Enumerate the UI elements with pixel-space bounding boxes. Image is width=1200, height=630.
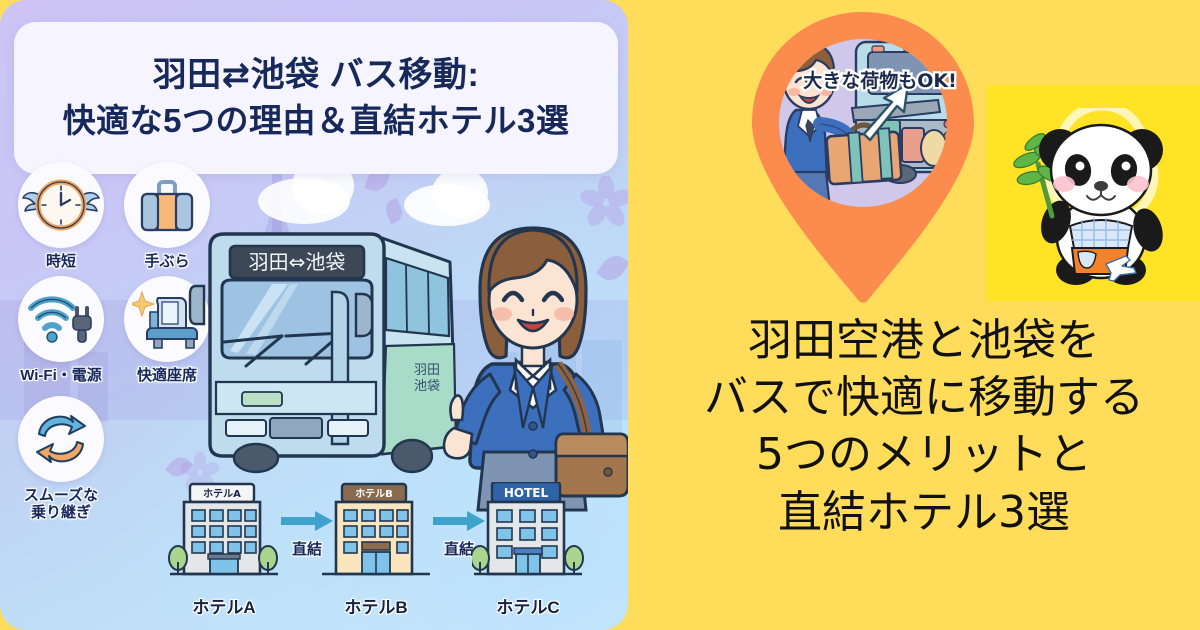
hotel-building-icon: ホテルB xyxy=(320,482,432,586)
benefit-label: 時短 xyxy=(8,254,114,271)
hotel-item-b[interactable]: ホテルB ホテルB xyxy=(320,482,432,618)
title-line-1: 羽田⇄池袋 バス移動: xyxy=(153,55,480,96)
svg-text:羽田: 羽田 xyxy=(414,363,440,378)
svg-text:羽田⇔池袋: 羽田⇔池袋 xyxy=(249,250,346,274)
title-line-2: 快適な5つの理由＆直結ホテル3選 xyxy=(63,101,570,141)
pin-photo-caption: 大きな荷物もOK! xyxy=(803,69,957,92)
headline-line-3: 5つのメリットと xyxy=(648,426,1200,483)
map-pin-with-photo: 大きな荷物もOK! xyxy=(752,12,974,304)
hotel-name: ホテルC xyxy=(472,593,584,618)
hotel-item-a[interactable]: ホテルA xyxy=(168,482,280,618)
benefit-icon-bubble xyxy=(18,276,104,362)
title-card: 羽田⇄池袋 バス移動: 快適な5つの理由＆直結ホテル3選 xyxy=(14,22,618,174)
hotel-name: ホテルA xyxy=(168,593,280,618)
hotel-building-icon: ホテルA xyxy=(168,482,280,586)
benefit-item-smooth-transfer[interactable]: スムーズな 乗り継ぎ xyxy=(8,396,114,522)
headline-text: 羽田空港と池袋を バスで快適に移動する 5つのメリットと 直結ホテル3選 xyxy=(648,312,1200,541)
headline-line-1: 羽田空港と池袋を xyxy=(648,312,1200,369)
smooth-transfer-icon xyxy=(29,408,93,470)
benefit-icon-bubble xyxy=(18,162,104,248)
winged-clock-icon xyxy=(22,174,100,236)
svg-text:HOTEL: HOTEL xyxy=(504,486,549,500)
benefit-item-jitan[interactable]: 時短 xyxy=(8,162,114,271)
left-illustration-panel: 羽田⇄池袋 バス移動: 快適な5つの理由＆直結ホテル3選 xyxy=(0,0,628,630)
benefit-label-2: 乗り継ぎ xyxy=(8,505,114,522)
panda-mascot-icon xyxy=(1008,108,1188,294)
hotel-name: ホテルB xyxy=(320,593,432,618)
poster-canvas: 羽田⇄池袋 バス移動: 快適な5つの理由＆直結ホテル3選 xyxy=(0,0,1200,630)
benefit-item-wifi-power[interactable]: Wi-Fi・電源 xyxy=(8,276,114,385)
headline-line-2: バスで快適に移動する xyxy=(648,369,1200,426)
benefit-label: スムーズな xyxy=(8,488,114,505)
benefit-icon-bubble xyxy=(18,396,104,482)
svg-text:ホテルA: ホテルA xyxy=(203,488,241,500)
hotel-building-icon: HOTEL xyxy=(472,482,584,586)
benefit-label: Wi-Fi・電源 xyxy=(8,368,114,385)
wifi-power-icon xyxy=(25,290,97,348)
hotel-row: ホテルA xyxy=(168,482,588,617)
smiling-woman-character xyxy=(440,214,628,514)
hotel-item-c[interactable]: HOTEL xyxy=(472,482,584,618)
svg-text:池袋: 池袋 xyxy=(414,379,440,394)
svg-text:ホテルB: ホテルB xyxy=(355,488,393,500)
headline-line-4: 直結ホテル3選 xyxy=(648,484,1200,541)
